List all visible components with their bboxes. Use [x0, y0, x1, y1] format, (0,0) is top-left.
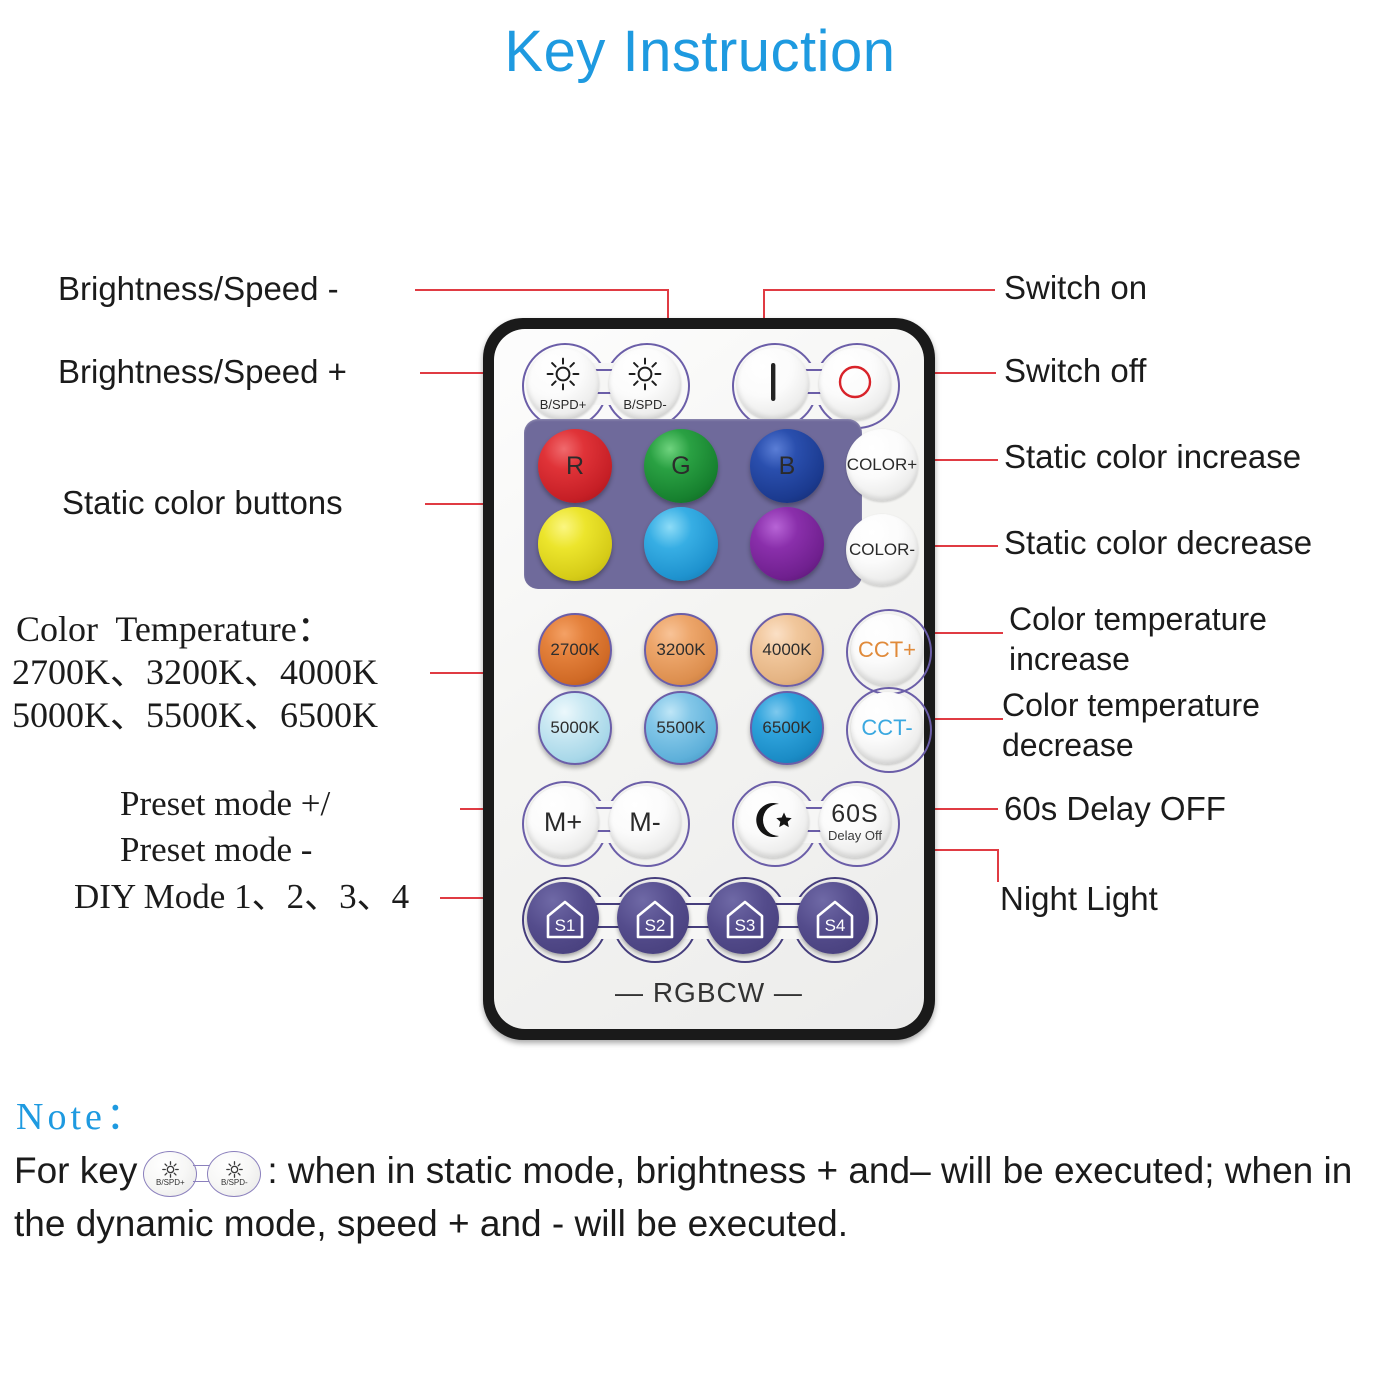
key-night-light[interactable]: [737, 786, 809, 858]
callout-color-temp-line1: Color Temperature：: [16, 608, 333, 650]
mini-bspd-pair-icon: B/SPD+B/SPD-: [143, 1151, 261, 1197]
house-icon: S1: [543, 898, 583, 938]
key-label-bspd-plus: B/SPD+: [540, 397, 587, 412]
key-label-green: G: [671, 452, 690, 481]
leader-brightness-minus-h: [415, 289, 669, 291]
key-label-blue: B: [779, 452, 796, 481]
key-cct-5500k[interactable]: 5500K: [644, 691, 718, 765]
key-mode-plus[interactable]: M+: [527, 786, 599, 858]
key-color-green[interactable]: G: [644, 429, 718, 503]
key-bspd-minus[interactable]: B/SPD-: [609, 348, 681, 420]
house-icon: S3: [723, 898, 763, 938]
key-label-delay-60s: 60S: [831, 802, 878, 827]
note-heading: Note：: [16, 1085, 148, 1140]
key-s2[interactable]: S2: [617, 882, 689, 954]
remote-face: B/SPD+ B/SPD-: [494, 329, 924, 1029]
callout-switch-off: Switch off: [1004, 352, 1146, 391]
callout-static-color-increase: Static color increase: [1004, 438, 1301, 477]
key-label-3200k: 3200K: [656, 640, 705, 660]
key-color-yellow[interactable]: [538, 507, 612, 581]
key-s3[interactable]: S3: [707, 882, 779, 954]
remote-control-body: B/SPD+ B/SPD-: [483, 318, 935, 1040]
key-color-minus[interactable]: COLOR-: [846, 514, 918, 586]
key-color-blue[interactable]: B: [750, 429, 824, 503]
key-cct-3200k[interactable]: 3200K: [644, 613, 718, 687]
key-mode-minus[interactable]: M-: [609, 786, 681, 858]
house-icon: S2: [633, 898, 673, 938]
key-bspd-plus[interactable]: B/SPD+: [527, 348, 599, 420]
key-label-4000k: 4000K: [762, 640, 811, 660]
key-label-5500k: 5500K: [656, 718, 705, 738]
callout-preset-line2: Preset mode -: [120, 829, 312, 870]
key-label-2700k: 2700K: [550, 640, 599, 660]
callout-cct-increase-line2: increase: [1009, 641, 1130, 679]
key-label-5000k: 5000K: [550, 718, 599, 738]
power-on-bar-icon: [767, 361, 779, 408]
callout-preset-line1: Preset mode +/: [120, 783, 330, 824]
mini-label-bspd-minus: B/SPD-: [221, 1179, 248, 1187]
key-cct-4000k[interactable]: 4000K: [750, 613, 824, 687]
key-cct-2700k[interactable]: 2700K: [538, 613, 612, 687]
callout-cct-increase-line1: Color temperature: [1009, 601, 1267, 639]
callout-cct-decrease-line1: Color temperature: [1002, 687, 1260, 725]
page-title: Key Instruction: [0, 18, 1400, 85]
key-color-plus[interactable]: COLOR+: [846, 429, 918, 501]
key-label-red: R: [566, 452, 584, 481]
brightness-sun-icon: [546, 357, 580, 396]
key-label-cct-minus: CCT-: [861, 715, 912, 741]
static-color-panel: R G B: [524, 419, 862, 589]
power-off-circle-icon: [835, 362, 875, 407]
callout-static-color-decrease: Static color decrease: [1004, 524, 1312, 563]
moon-star-icon: [751, 800, 795, 845]
key-cct-5000k[interactable]: 5000K: [538, 691, 612, 765]
brightness-sun-icon: [628, 357, 662, 396]
callout-delay-off: 60s Delay OFF: [1004, 790, 1226, 829]
key-label-s2: S2: [645, 916, 666, 935]
key-label-bspd-minus: B/SPD-: [623, 397, 666, 412]
leader-switch-on-h: [763, 289, 995, 291]
callout-night-light: Night Light: [1000, 880, 1158, 919]
key-color-purple[interactable]: [750, 507, 824, 581]
mini-key-bspd-plus: B/SPD+: [143, 1151, 197, 1197]
callout-brightness-minus: Brightness/Speed -: [58, 270, 339, 309]
key-s1[interactable]: S1: [527, 882, 599, 954]
key-label-cct-plus: CCT+: [858, 637, 916, 663]
key-instruction-page: Key Instruction: [0, 0, 1400, 1400]
callout-color-temp-line3: 5000K、5500K、6500K: [12, 694, 378, 736]
callout-switch-on: Switch on: [1004, 269, 1147, 308]
leader-night-light-v2: [997, 849, 999, 882]
mini-label-bspd-plus: B/SPD+: [156, 1179, 185, 1187]
key-cct-minus[interactable]: CCT-: [851, 692, 923, 764]
key-label-s1: S1: [555, 916, 576, 935]
key-label-color-minus: COLOR-: [849, 540, 915, 560]
callout-brightness-plus: Brightness/Speed +: [58, 353, 347, 392]
mini-key-bspd-minus: B/SPD-: [207, 1151, 261, 1197]
key-color-cyan[interactable]: [644, 507, 718, 581]
key-power-off[interactable]: [819, 348, 891, 420]
callout-color-temp-line2: 2700K、3200K、4000K: [12, 651, 378, 693]
key-label-mode-minus: M-: [629, 807, 660, 838]
key-label-color-plus: COLOR+: [847, 455, 917, 475]
remote-footer-label: — RGBCW —: [494, 977, 924, 1009]
key-label-s4: S4: [825, 916, 846, 935]
key-power-on[interactable]: [737, 348, 809, 420]
callout-static-color-buttons: Static color buttons: [62, 484, 343, 523]
note-body: For keyB/SPD+B/SPD-: when in static mode…: [14, 1145, 1386, 1250]
key-label-mode-plus: M+: [544, 807, 582, 838]
key-s4[interactable]: S4: [797, 882, 869, 954]
callout-diy-modes: DIY Mode 1、2、3、4: [74, 876, 409, 917]
key-label-delay-off: Delay Off: [828, 829, 882, 842]
key-cct-6500k[interactable]: 6500K: [750, 691, 824, 765]
callout-cct-decrease-line2: decrease: [1002, 727, 1134, 765]
key-delay-off[interactable]: 60S Delay Off: [819, 786, 891, 858]
note-prefix: For key: [14, 1150, 137, 1191]
key-label-6500k: 6500K: [762, 718, 811, 738]
key-label-s3: S3: [735, 916, 756, 935]
house-icon: S4: [813, 898, 853, 938]
key-color-red[interactable]: R: [538, 429, 612, 503]
key-cct-plus[interactable]: CCT+: [851, 614, 923, 686]
